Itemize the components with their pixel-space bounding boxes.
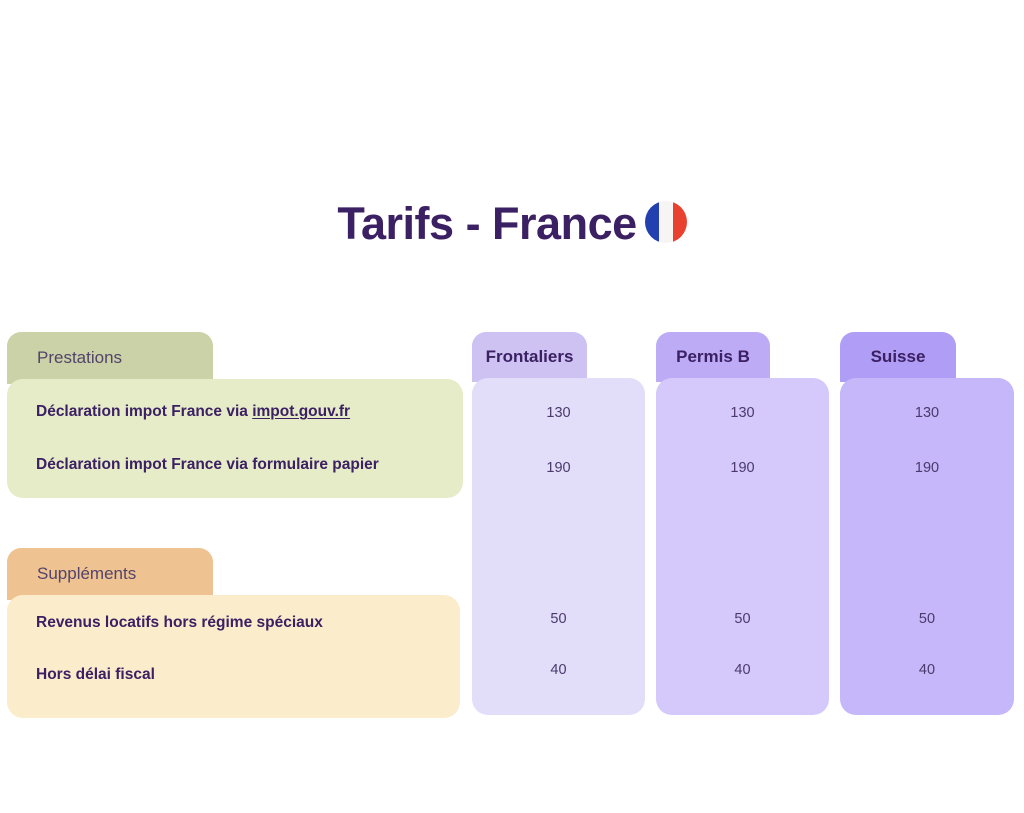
- row-label-presta-0: Déclaration impot France via impot.gouv.…: [36, 403, 350, 421]
- row-label-presta-0-text: Déclaration impot France via: [36, 403, 252, 420]
- column-card-permis-b: [656, 378, 829, 715]
- column-tab-permis-b[interactable]: Permis B: [656, 332, 770, 382]
- column-card-suisse: [840, 378, 1014, 715]
- column-card-frontaliers: [472, 378, 645, 715]
- column-tab-permis-b-label: Permis B: [676, 347, 750, 367]
- section-tab-prestations-label: Prestations: [7, 348, 122, 368]
- impot-gouv-link[interactable]: impot.gouv.fr: [252, 403, 350, 420]
- column-tab-suisse[interactable]: Suisse: [840, 332, 956, 382]
- column-tab-frontaliers[interactable]: Frontaliers: [472, 332, 587, 382]
- section-tab-supplements: Suppléments: [7, 548, 213, 600]
- column-tab-suisse-label: Suisse: [871, 347, 926, 367]
- section-tab-supplements-label: Suppléments: [7, 564, 136, 584]
- section-tab-prestations: Prestations: [7, 332, 213, 384]
- row-label-supp-1: Hors délai fiscal: [36, 666, 155, 684]
- page-title-text: Tarifs - France: [337, 198, 636, 249]
- row-label-supp-0: Revenus locatifs hors régime spéciaux: [36, 614, 323, 632]
- page-title: Tarifs - France: [0, 198, 1024, 250]
- france-flag-icon: [645, 201, 687, 243]
- column-tab-frontaliers-label: Frontaliers: [486, 347, 574, 367]
- section-card-prestations: [7, 379, 463, 498]
- row-label-presta-1: Déclaration impot France via formulaire …: [36, 456, 379, 474]
